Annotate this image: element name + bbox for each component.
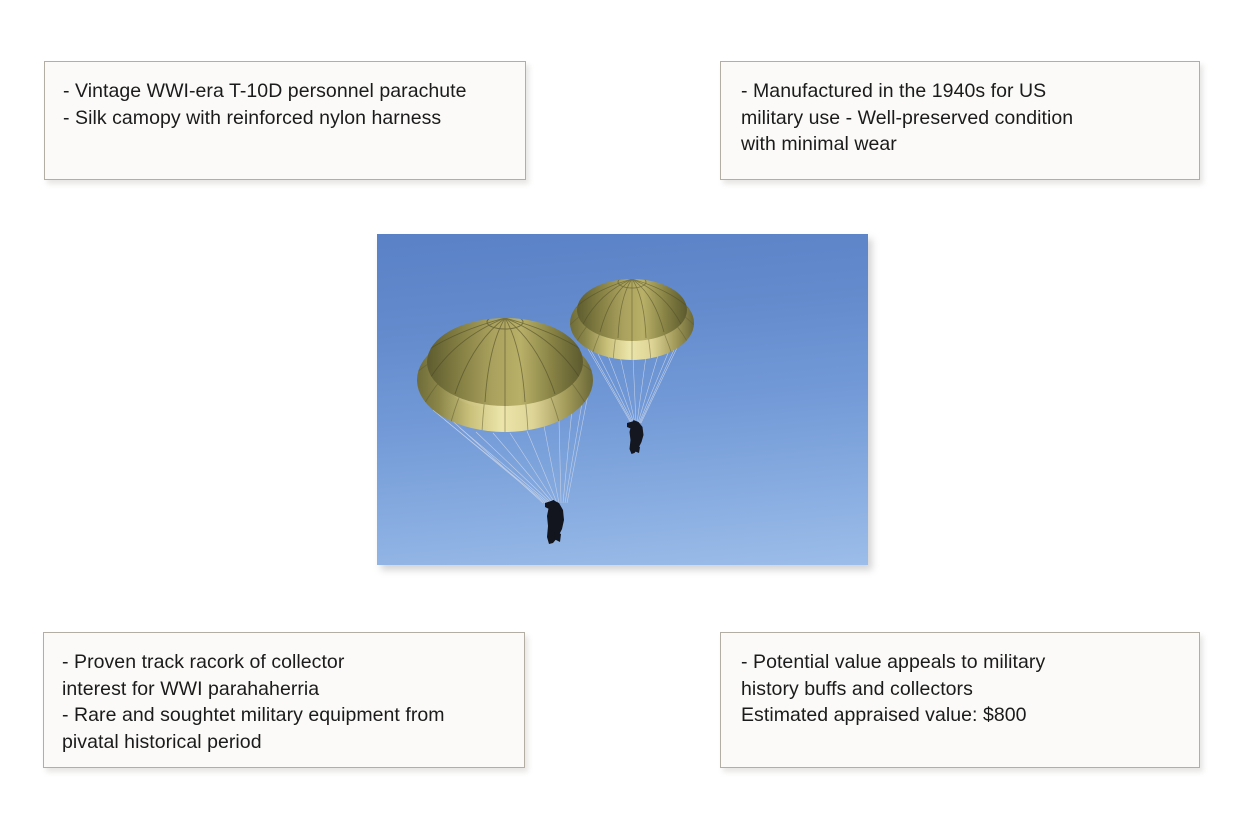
jumper-upper [627,420,644,454]
callout-top-left-text: - Vintage WWI-era T-10D personnel parach… [63,78,507,131]
callout-bottom-right[interactable]: - Potential value appeals to military hi… [720,632,1200,768]
slide-canvas: - Vintage WWI-era T-10D personnel parach… [0,0,1248,832]
parachute-photo[interactable] [377,234,868,565]
callout-top-right[interactable]: - Manufactured in the 1940s for US milit… [720,61,1200,180]
callout-bottom-left[interactable]: - Proven track racork of collector inter… [43,632,525,768]
jumper-lower [545,500,564,544]
parachute-scene-graphic [377,234,868,565]
callout-bottom-left-text: - Proven track racork of collector inter… [62,649,506,755]
callout-top-right-text: - Manufactured in the 1940s for US milit… [739,78,1181,158]
callout-top-left[interactable]: - Vintage WWI-era T-10D personnel parach… [44,61,526,180]
callout-bottom-right-text: - Potential value appeals to military hi… [739,649,1181,729]
